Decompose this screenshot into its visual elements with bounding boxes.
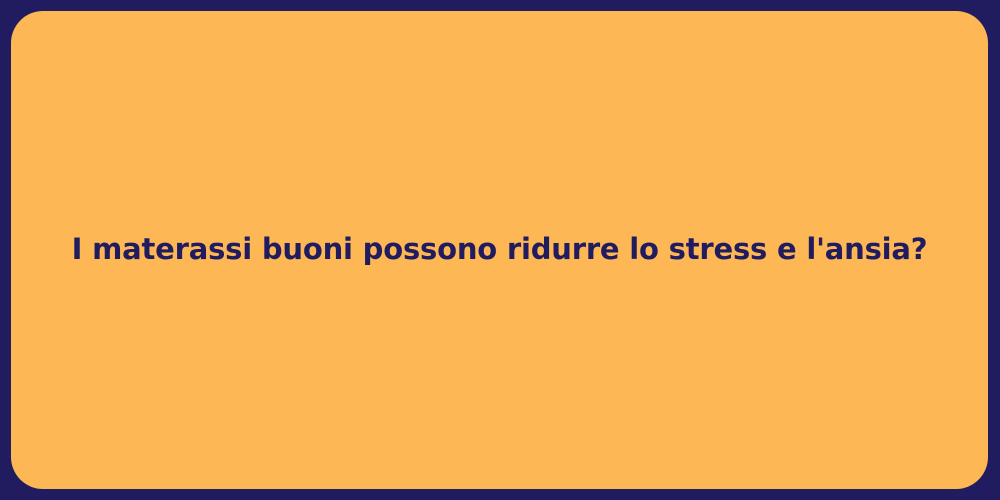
banner-frame: I materassi buoni possono ridurre lo str… bbox=[0, 0, 1000, 500]
page-title: I materassi buoni possono ridurre lo str… bbox=[32, 231, 968, 267]
banner-card: I materassi buoni possono ridurre lo str… bbox=[11, 11, 988, 489]
